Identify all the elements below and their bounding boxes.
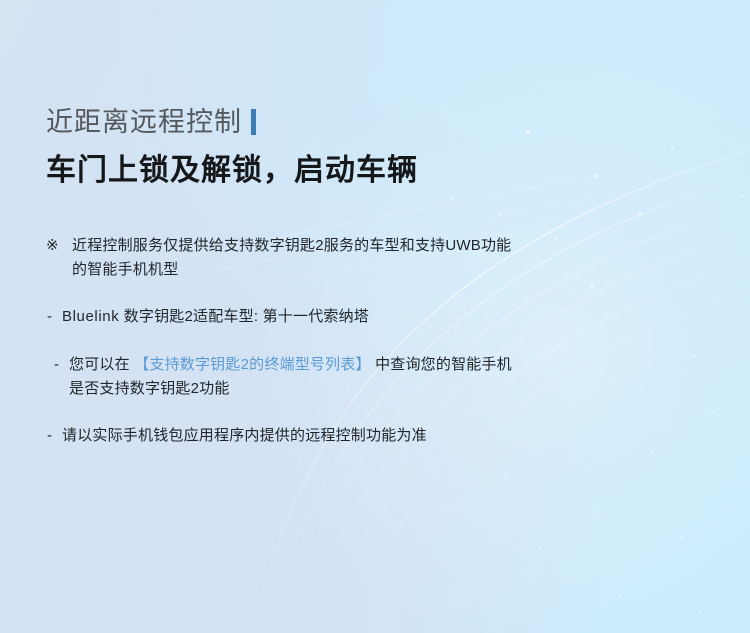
dash-marker-icon: -	[47, 424, 52, 448]
promo-slide: 近距离远程控制 车门上锁及解锁，启动车辆 ※ 近程控制服务仅提供给支持数字钥匙2…	[0, 0, 750, 633]
note-item-wallet-app: - 请以实际手机钱包应用程序内提供的远程控制功能为准	[46, 424, 730, 448]
note-text: 数字钥匙2适配车型: 第十一代索纳塔	[119, 308, 369, 325]
note-text-before: 您可以在	[69, 356, 134, 373]
note-item-device-list: - 您可以在 【支持数字钥匙2的终端型号列表】 中查询您的智能手机 是否支持数字…	[53, 353, 730, 402]
note-text-after: 中查询您的智能手机	[371, 356, 512, 373]
note-text: 请以实际手机钱包应用程序内提供的远程控制功能为准	[62, 427, 427, 444]
dash-marker-icon: -	[54, 353, 59, 377]
accent-bar-icon	[251, 109, 256, 135]
eyebrow-text: 近距离远程控制	[46, 106, 242, 138]
note-line-2: 是否支持数字钥匙2功能	[69, 380, 230, 397]
brand-name: Bluelink	[62, 308, 119, 325]
page-title: 车门上锁及解锁，启动车辆	[46, 138, 730, 190]
note-item-compatible-model: - Bluelink 数字钥匙2适配车型: 第十一代索纳塔	[46, 305, 730, 329]
reference-mark-icon: ※	[46, 234, 59, 258]
note-item-disclaimer: ※ 近程控制服务仅提供给支持数字钥匙2服务的车型和支持UWB功能 的智能手机机型	[46, 234, 730, 283]
supported-device-list-link[interactable]: 【支持数字钥匙2的终端型号列表】	[134, 356, 371, 373]
eyebrow-heading: 近距离远程控制	[46, 0, 730, 138]
notes-list: ※ 近程控制服务仅提供给支持数字钥匙2服务的车型和支持UWB功能 的智能手机机型…	[46, 190, 730, 449]
note-line-2: 的智能手机机型	[72, 261, 178, 278]
content-block: 近距离远程控制 车门上锁及解锁，启动车辆 ※ 近程控制服务仅提供给支持数字钥匙2…	[46, 0, 730, 468]
note-line-1: 近程控制服务仅提供给支持数字钥匙2服务的车型和支持UWB功能	[72, 237, 511, 254]
dash-marker-icon: -	[47, 305, 52, 329]
